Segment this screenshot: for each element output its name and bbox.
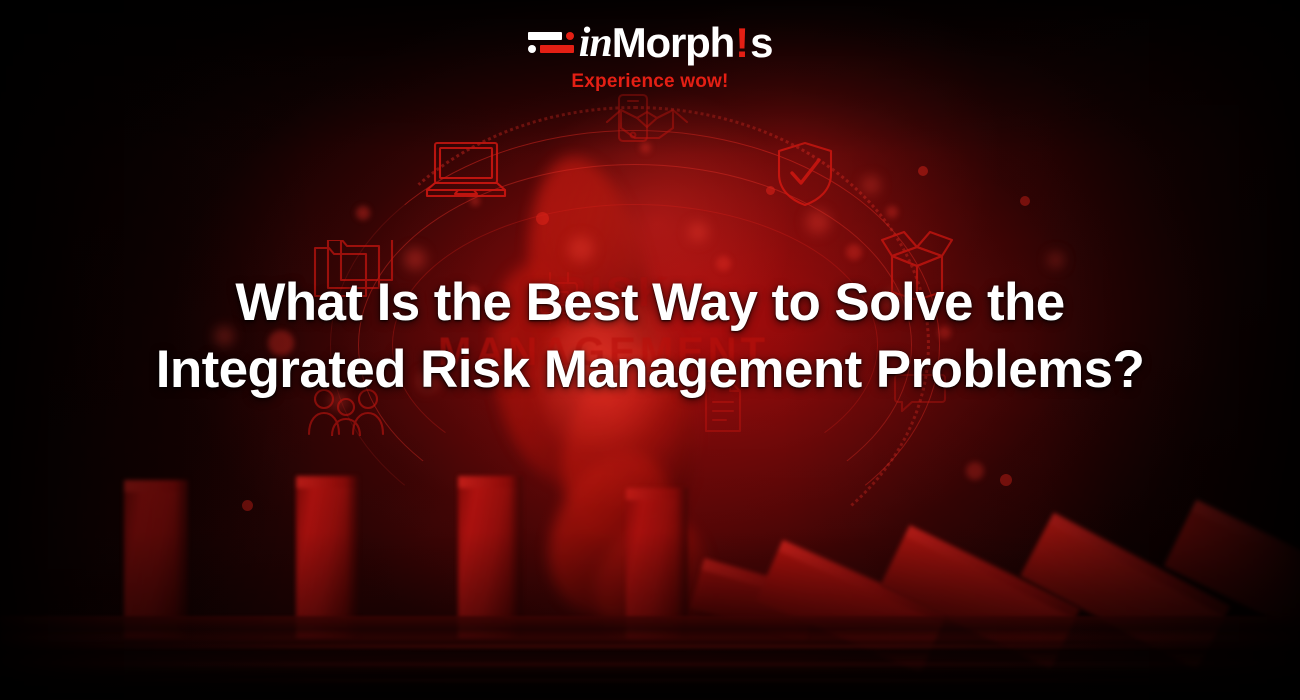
logo-text-in: in (579, 22, 612, 64)
headline-line-2: Integrated Risk Management Problems? (60, 337, 1240, 404)
logo-text-s: s (750, 22, 772, 64)
logo-text-morph: Morph (612, 22, 734, 64)
logo-tagline: Experience wow! (571, 71, 728, 93)
inmorphis-bars-mark (528, 32, 574, 55)
logo-exclamation: ! (735, 22, 749, 64)
page-title: What Is the Best Way to Solve the Integr… (0, 270, 1300, 404)
hero-banner: RISK MANAGEMENT (0, 0, 1300, 700)
headline-line-1: What Is the Best Way to Solve the (60, 270, 1240, 337)
brand-logo[interactable]: in Morph ! s Experience wow! (0, 22, 1300, 93)
